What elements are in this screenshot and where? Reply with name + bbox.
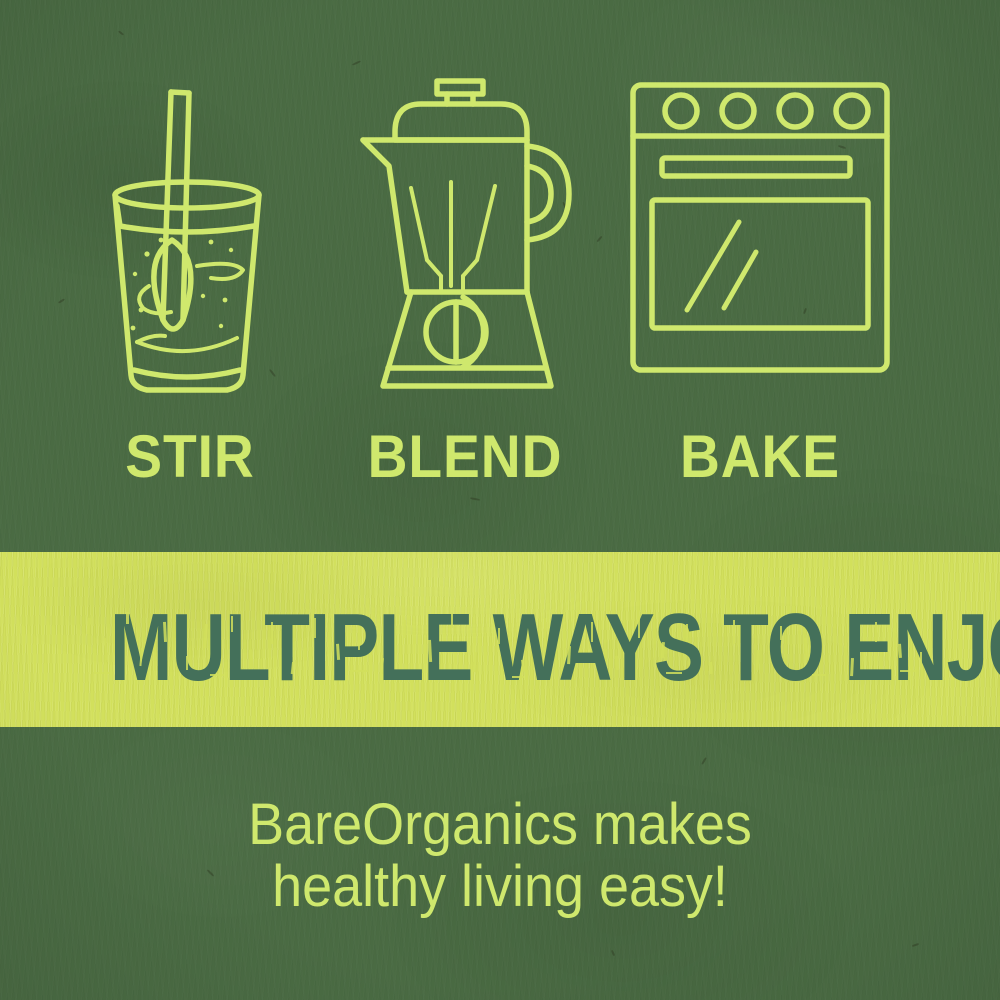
blend-icon-cell — [355, 70, 575, 410]
icon-label-row: STIR BLEND BAKE — [0, 422, 1000, 496]
promo-poster: STIR BLEND BAKE MULTIPLE WAYS TO ENJOY — [0, 0, 1000, 1000]
headline-banner: MULTIPLE WAYS TO ENJOY — [0, 552, 1000, 727]
blender-icon — [355, 70, 575, 410]
icon-row — [0, 70, 1000, 410]
tagline-line-1: BareOrganics makes — [35, 794, 965, 856]
paper-speck — [701, 757, 707, 765]
paper-speck — [118, 30, 124, 35]
stir-glass-spoon-icon — [75, 70, 305, 410]
tagline-line-2: healthy living easy! — [35, 856, 965, 918]
tagline: BareOrganics makes healthy living easy! — [35, 794, 965, 918]
stir-label: STIR — [84, 422, 296, 492]
paper-speck — [352, 60, 361, 65]
bake-label: BAKE — [637, 422, 884, 492]
paper-speck — [611, 950, 615, 956]
banner-headline: MULTIPLE WAYS TO ENJOY — [110, 600, 890, 696]
stir-icon-cell — [75, 70, 305, 410]
oven-icon — [620, 70, 900, 410]
paper-speck — [912, 943, 919, 947]
blend-label: BLEND — [357, 422, 572, 492]
bake-icon-cell — [620, 70, 900, 410]
paper-speck — [470, 497, 480, 501]
